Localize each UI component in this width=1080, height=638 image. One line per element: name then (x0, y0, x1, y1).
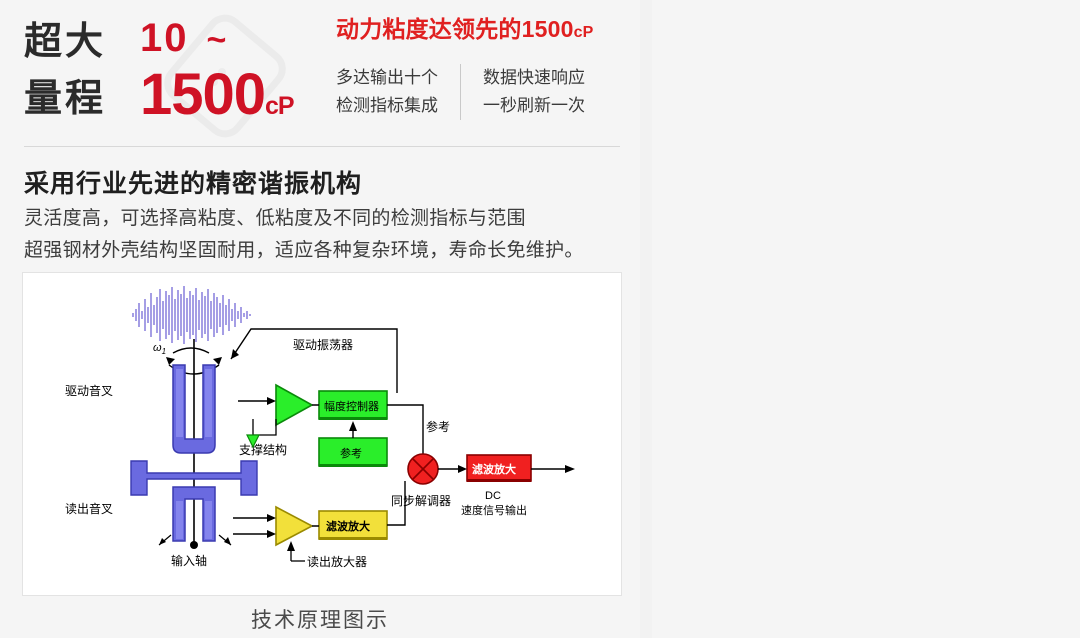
filter-amplifier-yellow-label: 滤波放大 (326, 519, 370, 533)
readout-fork-label: 读出音叉 (65, 501, 113, 516)
left-panel: 超大 量程 10~ 1500cP 动力粘度达领先的1500cP 多达输出十个 检… (0, 0, 640, 638)
headline-right-block: 动力粘度达领先的1500cP 多达输出十个 检测指标集成 数据快速响应 一秒刷新… (336, 12, 652, 120)
sub-left-line2: 检测指标集成 (336, 92, 438, 120)
red-claim-unit: cP (574, 24, 594, 41)
range-max-value: 1500 (140, 62, 265, 127)
left-caption: 技术原理图示 (0, 604, 640, 634)
sub-right-line2: 一秒刷新一次 (483, 92, 585, 120)
sub-column-right: 数据快速响应 一秒刷新一次 (460, 64, 585, 120)
headline-sub-columns: 多达输出十个 检测指标集成 数据快速响应 一秒刷新一次 (336, 64, 652, 120)
sub-right-line1: 数据快速响应 (483, 64, 585, 92)
infographic-page: 超大 量程 10~ 1500cP 动力粘度达领先的1500cP 多达输出十个 检… (0, 0, 1080, 638)
technical-diagram: ω1 (22, 272, 622, 596)
right-panel: 领先算法多点标定 长期的算法深度优化、出色的准确性和稳定 性满足实验室检测和在线… (652, 0, 1080, 638)
drive-oscillator-label: 驱动振荡器 (293, 338, 353, 352)
range-unit: cP (265, 92, 294, 120)
reference-label: 参考 (426, 419, 450, 434)
red-claim-text: 动力粘度达领先的1500 (336, 16, 574, 42)
reference-box-label: 参考 (340, 446, 362, 460)
amplitude-controller-label: 幅度控制器 (324, 399, 379, 413)
section-body-line2: 超强钢材外壳结构坚固耐用，适应各种复杂环境，寿命长免维护。 (24, 235, 616, 267)
sync-demodulator-label: 同步解调器 (391, 494, 451, 508)
sub-left-line1: 多达输出十个 (336, 64, 438, 92)
section-body-line1: 灵活度高，可选择高粘度、低粘度及不同的检测指标与范围 (24, 203, 616, 235)
support-structure-label: 支撑结构 (239, 442, 287, 457)
range-tilde: ~ (189, 21, 229, 59)
range-min-row: 10~ (140, 10, 228, 68)
section-body: 灵活度高，可选择高粘度、低粘度及不同的检测指标与范围 超强钢材外壳结构坚固耐用，… (24, 203, 616, 267)
section-title: 采用行业先进的精密谐振机构 (24, 164, 362, 200)
headline-label: 超大 量程 (24, 14, 136, 128)
range-max-row: 1500cP (140, 64, 294, 137)
section-divider (24, 146, 620, 147)
sub-column-left: 多达输出十个 检测指标集成 (336, 64, 438, 120)
range-min-value: 10 (140, 16, 189, 60)
sync-demodulator-shape (408, 454, 438, 484)
input-shaft-label: 输入轴 (171, 553, 207, 568)
drive-fork-label: 驱动音叉 (65, 383, 113, 398)
dc-label-line2: 速度信号输出 (461, 503, 527, 517)
shaft-endpoint (190, 541, 198, 549)
readout-amplifier-label: 读出放大器 (307, 554, 367, 569)
headline-label-line1: 超大 (24, 14, 136, 71)
headline-label-line2: 量程 (24, 71, 136, 128)
dc-label-line1: DC (485, 490, 501, 502)
filter-amplifier-red-label: 滤波放大 (472, 462, 516, 476)
headline-block: 超大 量程 10~ 1500cP 动力粘度达领先的1500cP 多达输出十个 检… (24, 10, 624, 132)
red-claim: 动力粘度达领先的1500cP (336, 12, 652, 50)
